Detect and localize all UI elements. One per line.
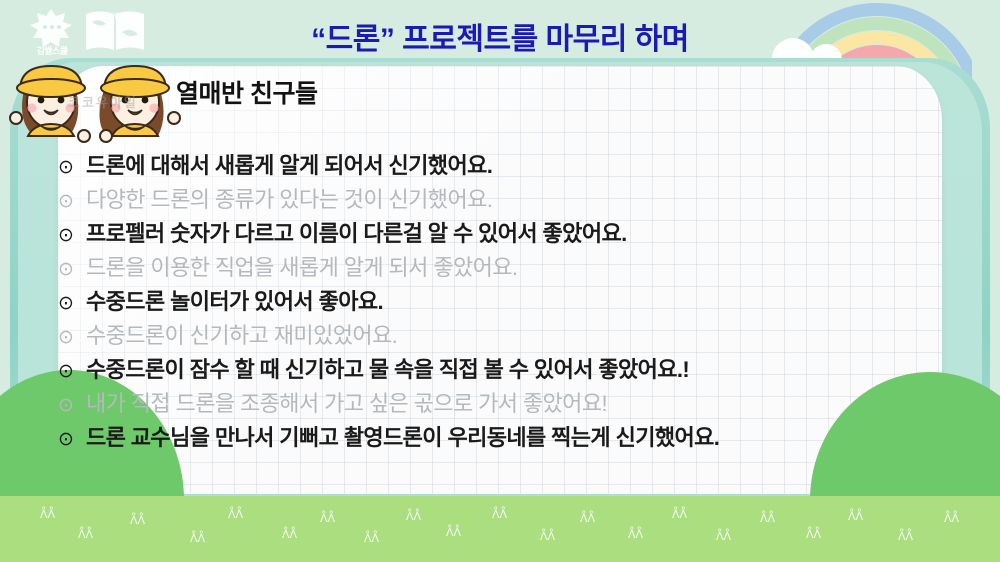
list-item: ⊙ 수중드론이 신기하고 재미있었어요.: [58, 318, 988, 352]
bullet-icon: ⊙: [58, 430, 86, 449]
class-subtitle: 열매반 친구들: [176, 74, 317, 110]
list-item: ⊙ 다양한 드론의 종류가 있다는 것이 신기했어요.: [58, 182, 988, 216]
list-item: ⊙ 드론을 이용한 직업을 새롭게 알게 되서 좋았어요.: [58, 250, 988, 284]
bullet-icon: ⊙: [58, 260, 86, 279]
list-item: ⊙ 수중드론이 잠수 할 때 신기하고 물 속을 직접 볼 수 있어서 좋았어요…: [58, 352, 988, 386]
bullet-icon: ⊙: [58, 396, 86, 415]
bullet-icon: ⊙: [58, 362, 86, 381]
slide-canvas: ᐰᐰ ᐰᐰ ᐰᐰ ᐰᐰ ᐰᐰ ᐰᐰ ᐰᐰ ᐰᐰ ᐰᐰ ᐰᐰ ᐰᐰ ᐰᐰ ᐰᐰ ᐰ…: [0, 0, 1000, 562]
list-item: ⊙ 드론 교수님을 만나서 기뻐고 촬영드론이 우리동네를 찍는게 신기했어요.: [58, 420, 988, 454]
list-item: ⊙ 수중드론 놀이터가 있어서 좋아요.: [58, 284, 988, 318]
bullet-icon: ⊙: [58, 226, 86, 245]
list-item-text: 다양한 드론의 종류가 있다는 것이 신기했어요.: [86, 182, 492, 214]
watermark-text: 코코유아일: [68, 92, 138, 111]
bullet-icon: ⊙: [58, 158, 86, 177]
list-item-text: 수중드론이 잠수 할 때 신기하고 물 속을 직접 볼 수 있어서 좋았어요.!: [86, 352, 689, 384]
page-title: “드론” 프로젝트를 마무리 하며: [0, 14, 1000, 58]
bullet-icon: ⊙: [58, 328, 86, 347]
list-item-text: 드론에 대해서 새롭게 알게 되어서 신기했어요.: [86, 148, 492, 180]
list-item-text: 수중드론 놀이터가 있어서 좋아요.: [86, 284, 383, 316]
comments-list: ⊙ 드론에 대해서 새롭게 알게 되어서 신기했어요. ⊙ 다양한 드론의 종류…: [58, 148, 988, 454]
list-item-text: 수중드론이 신기하고 재미있었어요.: [86, 318, 397, 350]
list-item: ⊙ 드론에 대해서 새롭게 알게 되어서 신기했어요.: [58, 148, 988, 182]
bullet-icon: ⊙: [58, 294, 86, 313]
list-item: ⊙ 내가 직접 드론을 조종해서 가고 싶은 곣으로 가서 좋았어요!: [58, 386, 988, 420]
list-item-text: 내가 직접 드론을 조종해서 가고 싶은 곣으로 가서 좋았어요!: [86, 386, 607, 418]
bullet-icon: ⊙: [58, 192, 86, 211]
grass-strip: ᐰᐰ ᐰᐰ ᐰᐰ ᐰᐰ ᐰᐰ ᐰᐰ ᐰᐰ ᐰᐰ ᐰᐰ ᐰᐰ ᐰᐰ ᐰᐰ ᐰᐰ ᐰ…: [0, 496, 1000, 562]
list-item-text: 드론을 이용한 직업을 새롭게 알게 되서 좋았어요.: [86, 250, 517, 282]
list-item-text: 프로펠러 숫자가 다르고 이름이 다른걸 알 수 있어서 좋았어요.: [86, 216, 627, 248]
list-item-text: 드론 교수님을 만나서 기뻐고 촬영드론이 우리동네를 찍는게 신기했어요.: [86, 420, 719, 452]
list-item: ⊙ 프로펠러 숫자가 다르고 이름이 다른걸 알 수 있어서 좋았어요.: [58, 216, 988, 250]
